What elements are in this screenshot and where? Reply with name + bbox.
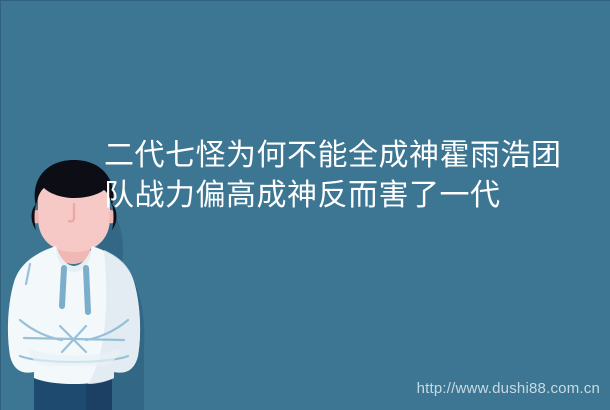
headline-line-1: 二代七怪为何不能全成神霍雨浩团: [104, 136, 600, 176]
article-thumbnail-banner: 二代七怪为何不能全成神霍雨浩团 队战力偏高成神反而害了一代 http://www…: [0, 0, 610, 410]
headline-line-2: 队战力偏高成神反而害了一代: [104, 176, 600, 216]
headline: 二代七怪为何不能全成神霍雨浩团 队战力偏高成神反而害了一代: [104, 136, 600, 216]
watermark-url: http://www.dushi88.com.cn: [417, 380, 600, 398]
